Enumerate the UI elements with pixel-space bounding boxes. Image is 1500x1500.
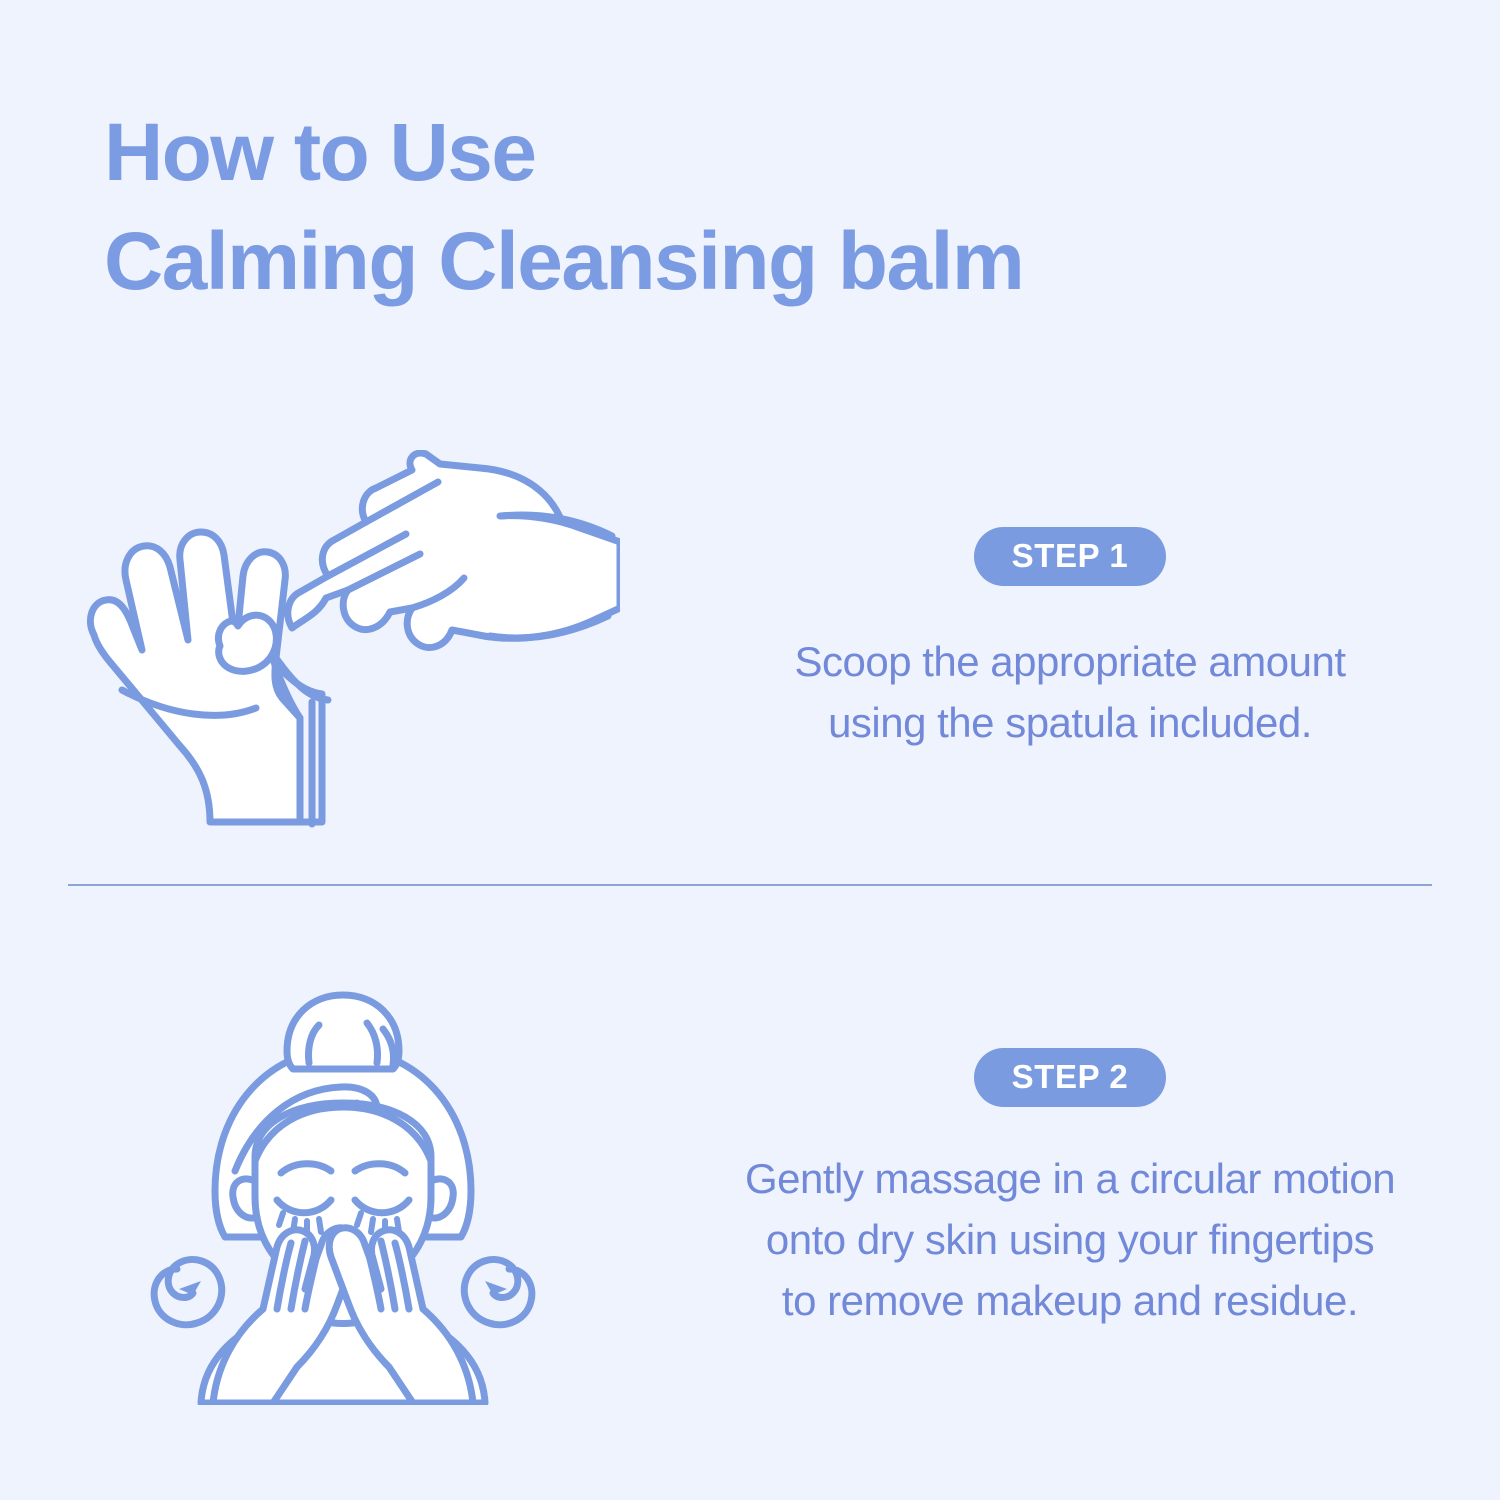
step-2-description-line-2: onto dry skin using your fingertips [745,1210,1395,1271]
step-2-row: STEP 2 Gently massage in a circular moti… [0,960,1500,1420]
step-2-text-container: STEP 2 Gently massage in a circular moti… [680,1048,1500,1332]
step-2-description: Gently massage in a circular motion onto… [745,1149,1395,1332]
step-2-illustration-container [0,975,680,1405]
step-1-description: Scoop the appropriate amount using the s… [794,632,1345,754]
step-1-description-line-2: using the spatula included. [794,693,1345,754]
step-2-description-line-3: to remove makeup and residue. [745,1271,1395,1332]
page-title-line-2: Calming Cleansing balm [104,207,1304,316]
step-1-badge: STEP 1 [974,527,1167,586]
step-2-description-line-1: Gently massage in a circular motion [745,1149,1395,1210]
step-1-illustration-container [0,450,680,830]
step-1-row: STEP 1 Scoop the appropriate amount usin… [0,430,1500,850]
section-divider [68,884,1432,886]
step-2-badge: STEP 2 [974,1048,1167,1107]
woman-massaging-face-icon [105,975,575,1405]
hand-scooping-balm-with-spatula-icon [60,450,620,830]
page-title-line-1: How to Use [104,98,1304,207]
how-to-use-infographic: How to Use Calming Cleansing balm [0,0,1500,1500]
step-1-description-line-1: Scoop the appropriate amount [794,632,1345,693]
step-1-text-container: STEP 1 Scoop the appropriate amount usin… [680,527,1500,754]
page-title: How to Use Calming Cleansing balm [104,98,1304,316]
